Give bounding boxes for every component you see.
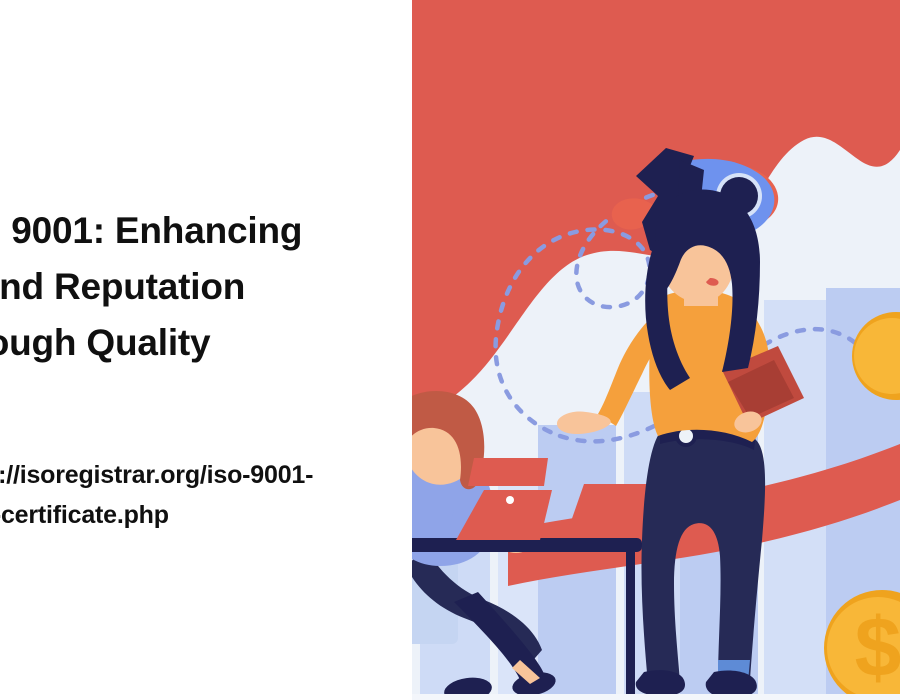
url-line-2: 2015-certificate.php	[0, 495, 412, 535]
laptop-logo	[506, 496, 514, 504]
headline-line-2: Brand Reputation	[0, 259, 412, 315]
url-line-1: https://isoregistrar.org/iso-9001-	[0, 455, 412, 495]
source-url[interactable]: https://isoregistrar.org/iso-9001- 2015-…	[0, 455, 412, 535]
bottom-edge	[412, 694, 900, 700]
business-growth-illustration: $	[412, 0, 900, 700]
laptop-lid	[468, 458, 548, 486]
illustration-svg: $	[412, 0, 900, 700]
headline-line-3: through Quality	[0, 315, 412, 371]
headline-line-1: ISO 9001: Enhancing	[0, 203, 412, 259]
standing-shoe-1	[636, 670, 685, 696]
promo-card: ISO 9001: Enhancing Brand Reputation thr…	[0, 0, 900, 700]
desk-leg-right	[626, 552, 635, 700]
text-panel: ISO 9001: Enhancing Brand Reputation thr…	[0, 0, 412, 700]
desk-top	[412, 538, 642, 552]
coin-dollar-symbol: $	[855, 600, 900, 694]
page-title: ISO 9001: Enhancing Brand Reputation thr…	[0, 203, 412, 371]
